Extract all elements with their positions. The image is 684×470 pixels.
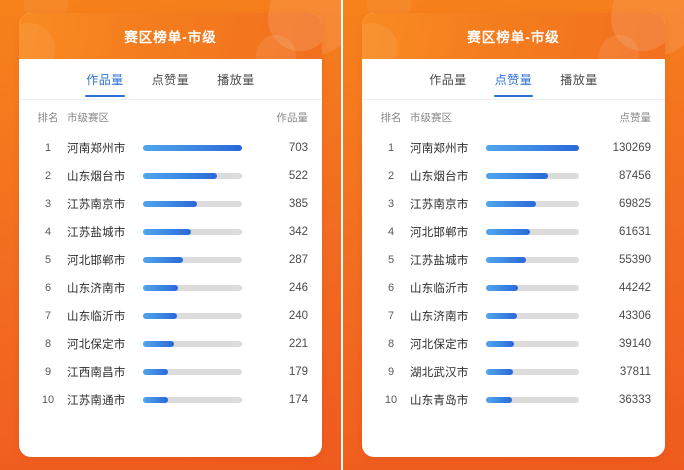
bar-track [143,229,242,235]
row-region: 江苏南京市 [406,196,478,212]
bar-fill [486,341,514,347]
row-rank: 7 [33,310,63,322]
row-bar [135,313,250,319]
row-value: 174 [250,394,308,406]
bar-fill [486,145,579,151]
table-row[interactable]: 1 河南郑州市 130269 [376,134,651,162]
bar-fill [143,257,183,263]
tab-works[interactable]: 作品量 [428,64,468,97]
row-bar [478,313,587,319]
row-region: 江西南昌市 [63,364,135,380]
row-region: 山东烟台市 [406,168,478,184]
decorative-blob-icon [19,23,55,59]
row-value: 240 [250,310,308,322]
bar-fill [143,341,174,347]
row-rank: 10 [376,394,406,406]
table-row[interactable]: 2 山东烟台市 87456 [376,162,651,190]
tab-likes[interactable]: 点赞量 [151,64,191,97]
row-region: 山东青岛市 [406,392,478,408]
row-value: 39140 [587,338,651,350]
bar-track [486,201,579,207]
column-header-value: 点赞量 [587,110,651,125]
tab-likes[interactable]: 点赞量 [494,64,534,97]
leaderboard-panel-likes: 赛区榜单-市级 作品量 点赞量 播放量 排名 市级赛区 点赞量 1 河南郑州市 [343,0,684,470]
table-row[interactable]: 8 河北保定市 221 [33,330,308,358]
bar-track [143,173,242,179]
row-rank: 1 [376,142,406,154]
bar-fill [486,173,548,179]
row-rank: 6 [376,282,406,294]
bar-fill [143,201,197,207]
row-bar [135,285,250,291]
row-region: 山东临沂市 [63,308,135,324]
row-region: 河北邯郸市 [406,224,478,240]
row-bar [478,229,587,235]
row-rank: 6 [33,282,63,294]
table-row[interactable]: 8 河北保定市 39140 [376,330,651,358]
row-bar [135,257,250,263]
bar-track [143,341,242,347]
leaderboard-card: 赛区榜单-市级 作品量 点赞量 播放量 排名 市级赛区 点赞量 1 河南郑州市 [362,13,665,457]
leaderboard-card: 赛区榜单-市级 作品量 点赞量 播放量 排名 市级赛区 作品量 1 河南郑州市 [19,13,322,457]
row-rank: 8 [33,338,63,350]
row-bar [478,285,587,291]
row-region: 湖北武汉市 [406,364,478,380]
tab-bar: 作品量 点赞量 播放量 [19,59,322,100]
row-rank: 7 [376,310,406,322]
row-rank: 2 [33,170,63,182]
page-title: 赛区榜单-市级 [124,26,217,46]
row-rank: 8 [376,338,406,350]
bar-fill [486,229,530,235]
row-value: 130269 [587,142,651,154]
row-rank: 9 [33,366,63,378]
row-rank: 9 [376,366,406,378]
table-row[interactable]: 10 山东青岛市 36333 [376,386,651,414]
bar-fill [143,397,168,403]
leaderboard-panel-works: 赛区榜单-市级 作品量 点赞量 播放量 排名 市级赛区 作品量 1 河南郑州市 [0,0,341,470]
bar-track [486,257,579,263]
bar-fill [143,173,217,179]
table-header-row: 排名 市级赛区 点赞量 [376,100,651,134]
bar-track [143,257,242,263]
bar-fill [486,201,536,207]
tab-works[interactable]: 作品量 [85,64,125,97]
row-region: 山东济南市 [63,280,135,296]
table-header-row: 排名 市级赛区 作品量 [33,100,308,134]
table-row[interactable]: 9 江西南昌市 179 [33,358,308,386]
row-bar [135,369,250,375]
bar-track [486,369,579,375]
bar-fill [486,369,513,375]
page-title: 赛区榜单-市级 [467,26,560,46]
bar-fill [486,257,526,263]
table-row[interactable]: 2 山东烟台市 522 [33,162,308,190]
row-value: 61631 [587,226,651,238]
tab-plays[interactable]: 播放量 [559,64,599,97]
row-bar [135,341,250,347]
table-row[interactable]: 10 江苏南通市 174 [33,386,308,414]
column-header-rank: 排名 [376,110,406,125]
row-bar [478,145,587,151]
bar-fill [143,145,242,151]
row-rank: 4 [376,226,406,238]
row-region: 江苏南京市 [63,196,135,212]
row-value: 221 [250,338,308,350]
row-value: 287 [250,254,308,266]
card-header: 赛区榜单-市级 [19,13,322,59]
row-value: 44242 [587,282,651,294]
row-bar [135,397,250,403]
row-region: 江苏盐城市 [63,224,135,240]
row-region: 河南郑州市 [63,140,135,156]
table-row[interactable]: 6 山东临沂市 44242 [376,274,651,302]
row-rank: 3 [376,198,406,210]
row-bar [478,341,587,347]
row-bar [478,201,587,207]
bar-track [486,397,579,403]
row-bar [135,229,250,235]
bar-fill [486,397,512,403]
table-row[interactable]: 6 山东济南市 246 [33,274,308,302]
bar-track [143,397,242,403]
row-value: 87456 [587,170,651,182]
row-region: 江苏南通市 [63,392,135,408]
row-bar [478,257,587,263]
row-rank: 4 [33,226,63,238]
row-bar [135,145,250,151]
bar-fill [143,369,168,375]
row-value: 342 [250,226,308,238]
bar-track [143,285,242,291]
row-region: 山东临沂市 [406,280,478,296]
tab-bar: 作品量 点赞量 播放量 [362,59,665,100]
bar-track [486,173,579,179]
row-value: 37811 [587,366,651,378]
leaderboard-table: 排名 市级赛区 作品量 1 河南郑州市 703 2 山东烟台市 522 [19,100,322,457]
row-bar [135,173,250,179]
row-bar [135,201,250,207]
row-value: 246 [250,282,308,294]
bar-fill [143,285,178,291]
bar-track [486,285,579,291]
row-bar [478,397,587,403]
bar-fill [143,313,177,319]
bar-track [143,145,242,151]
bar-fill [486,313,517,319]
row-value: 522 [250,170,308,182]
row-value: 703 [250,142,308,154]
bar-track [143,201,242,207]
column-header-region: 市级赛区 [406,110,478,125]
column-header-rank: 排名 [33,110,63,125]
table-row[interactable]: 1 河南郑州市 703 [33,134,308,162]
row-rank: 2 [376,170,406,182]
leaderboard-table: 排名 市级赛区 点赞量 1 河南郑州市 130269 2 山东烟台市 87456 [362,100,665,457]
card-header: 赛区榜单-市级 [362,13,665,59]
row-rank: 5 [33,254,63,266]
table-row[interactable]: 4 江苏盐城市 342 [33,218,308,246]
table-row[interactable]: 5 江苏盐城市 55390 [376,246,651,274]
row-rank: 3 [33,198,63,210]
table-row[interactable]: 7 山东济南市 43306 [376,302,651,330]
table-row[interactable]: 9 湖北武汉市 37811 [376,358,651,386]
row-rank: 5 [376,254,406,266]
row-region: 河北保定市 [406,336,478,352]
table-row[interactable]: 5 河北邯郸市 287 [33,246,308,274]
bar-track [143,313,242,319]
row-region: 山东济南市 [406,308,478,324]
row-region: 河北邯郸市 [63,252,135,268]
row-rank: 10 [33,394,63,406]
row-value: 69825 [587,198,651,210]
row-value: 385 [250,198,308,210]
row-region: 河北保定市 [63,336,135,352]
table-row[interactable]: 4 河北邯郸市 61631 [376,218,651,246]
row-value: 55390 [587,254,651,266]
column-header-value: 作品量 [250,110,308,125]
bar-track [143,369,242,375]
bar-fill [143,229,191,235]
table-row[interactable]: 3 江苏南京市 69825 [376,190,651,218]
row-value: 36333 [587,394,651,406]
bar-track [486,313,579,319]
bar-track [486,341,579,347]
row-region: 河南郑州市 [406,140,478,156]
column-header-region: 市级赛区 [63,110,135,125]
decorative-blob-icon [362,23,398,59]
row-value: 179 [250,366,308,378]
bar-track [486,229,579,235]
table-row[interactable]: 7 山东临沂市 240 [33,302,308,330]
table-row[interactable]: 3 江苏南京市 385 [33,190,308,218]
row-bar [478,173,587,179]
row-region: 江苏盐城市 [406,252,478,268]
row-value: 43306 [587,310,651,322]
tab-plays[interactable]: 播放量 [216,64,256,97]
bar-fill [486,285,518,291]
bar-track [486,145,579,151]
leaderboard-screenshot: 赛区榜单-市级 作品量 点赞量 播放量 排名 市级赛区 作品量 1 河南郑州市 [0,0,684,470]
row-bar [478,369,587,375]
row-rank: 1 [33,142,63,154]
row-region: 山东烟台市 [63,168,135,184]
